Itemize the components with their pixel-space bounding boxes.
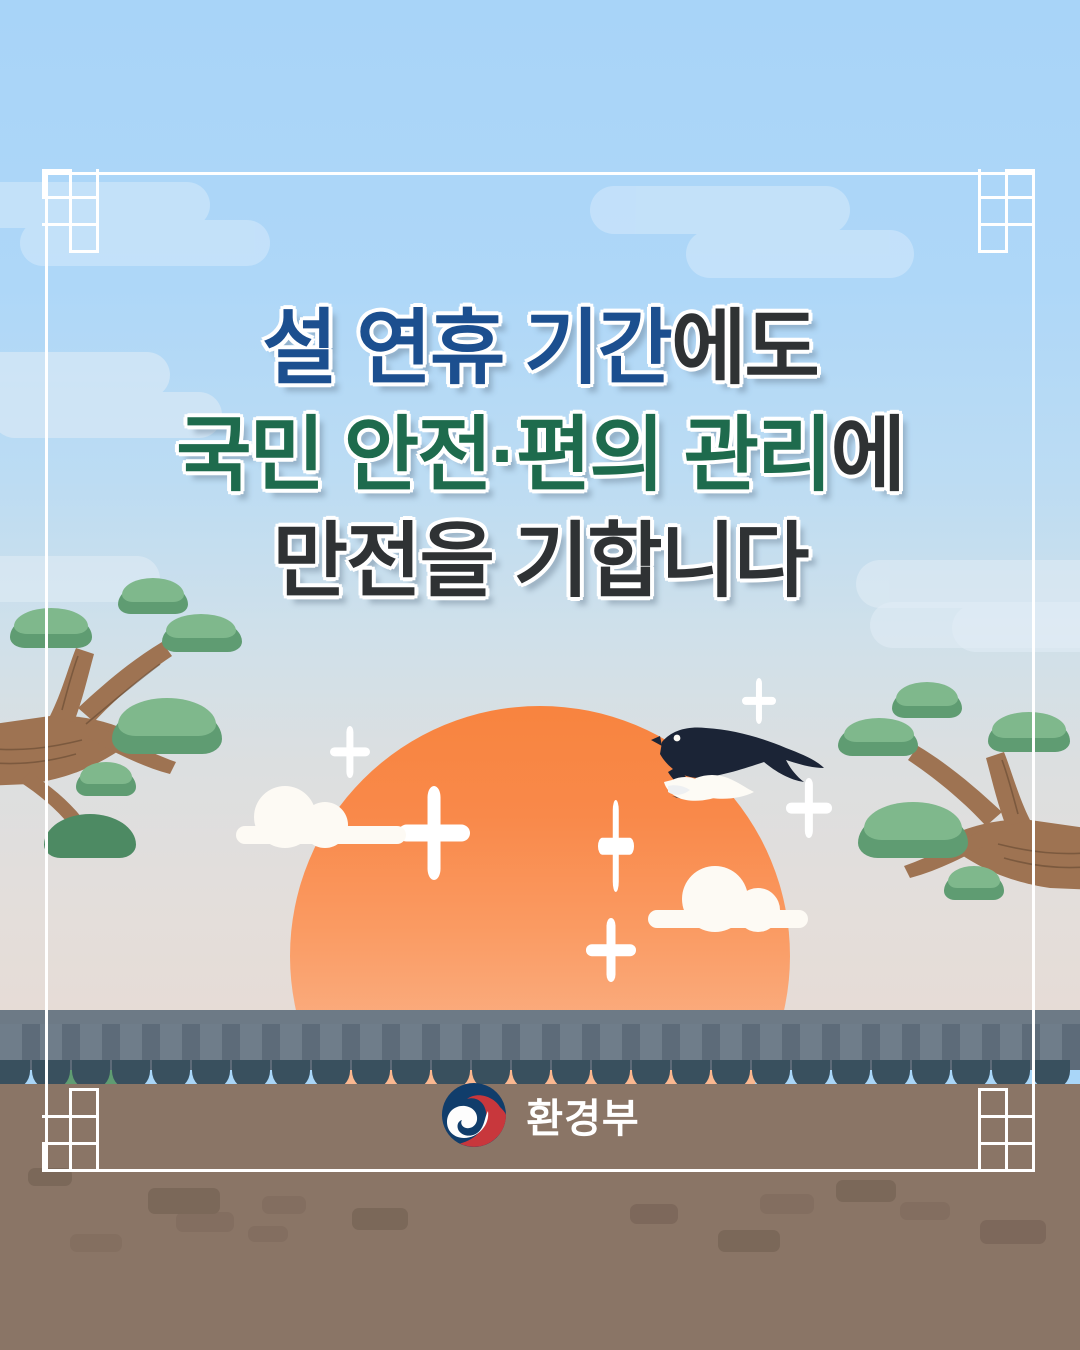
headline-segment-blue: 설 연휴 기간 [262, 303, 671, 394]
brick [718, 1230, 780, 1252]
ministry-name-label: 환경부 [526, 1086, 639, 1144]
brick [760, 1194, 814, 1214]
brick [900, 1202, 950, 1220]
poster-canvas: 설 연휴 기간에도 국민 안전·편의 관리에 만전을 기합니다 환경부 [0, 0, 1080, 1350]
corner-motif-top-left [45, 172, 115, 242]
ministry-logo-bar: 환경부 [0, 1072, 1080, 1158]
brick [980, 1220, 1046, 1244]
headline-line-2: 국민 안전·편의 관리에 [0, 403, 1080, 510]
brick [70, 1234, 122, 1252]
magpie-bird-icon [650, 706, 830, 816]
brick [352, 1208, 408, 1230]
brick [148, 1188, 220, 1214]
brick [630, 1204, 678, 1224]
headline-line-3: 만전을 기합니다 [0, 509, 1080, 616]
headline-segment-dark: 에 [830, 410, 903, 501]
brick [262, 1196, 306, 1214]
corner-motif-top-right [962, 172, 1032, 242]
korean-government-emblem-icon [440, 1081, 508, 1149]
headline-segment-dark: 에도 [671, 303, 818, 394]
headline-segment-dark: 만전을 기합니다 [273, 516, 808, 607]
brick [248, 1226, 288, 1242]
brick [836, 1180, 896, 1202]
headline-line-1: 설 연휴 기간에도 [0, 296, 1080, 403]
page-title: 설 연휴 기간에도 국민 안전·편의 관리에 만전을 기합니다 [0, 296, 1080, 616]
brick [176, 1212, 234, 1232]
headline-segment-green: 국민 안전·편의 관리 [176, 410, 830, 501]
